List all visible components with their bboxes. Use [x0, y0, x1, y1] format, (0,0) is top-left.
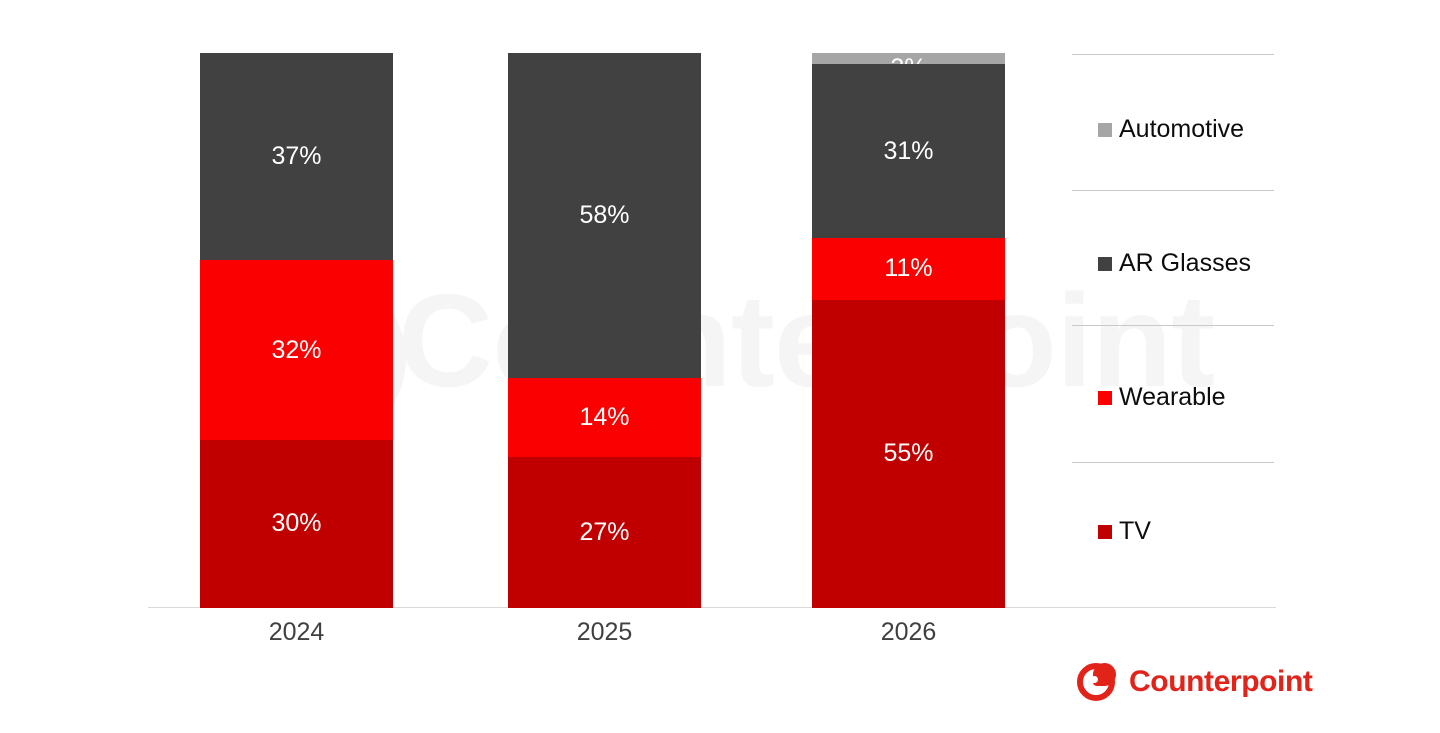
bar-segment-2024-wearable[interactable]: 32% — [200, 260, 393, 439]
bar-segment-2026-ar-glasses[interactable]: 31% — [812, 64, 1005, 238]
segment-value-label: 31% — [883, 139, 933, 164]
x-tick-label-2026: 2026 — [812, 618, 1005, 647]
legend-divider — [1072, 325, 1274, 326]
x-tick-label-2024: 2024 — [200, 618, 393, 647]
bar-segment-2024-tv[interactable]: 30% — [200, 440, 393, 608]
bar-segment-2026-wearable[interactable]: 11% — [812, 238, 1005, 300]
legend-swatch-icon — [1098, 391, 1112, 405]
counterpoint-logo: Counterpoint — [1076, 662, 1313, 702]
legend-label: Automotive — [1119, 117, 1244, 142]
legend-label: AR Glasses — [1119, 251, 1251, 276]
chart-canvas: Counterpoint 37% 32% 30% 2024 58% 14% — [0, 0, 1440, 733]
bar-segment-2025-wearable[interactable]: 14% — [508, 378, 701, 456]
bar-2025[interactable]: 58% 14% 27% — [508, 53, 701, 608]
segment-value-label: 32% — [271, 338, 321, 363]
x-tick-label-2025: 2025 — [508, 618, 701, 647]
legend-item-wearable[interactable]: Wearable — [1098, 385, 1226, 410]
bar-2026[interactable]: 2% 31% 11% 55% — [812, 53, 1005, 608]
legend-label: TV — [1119, 519, 1151, 544]
legend-divider — [1072, 190, 1274, 191]
legend-divider — [1072, 54, 1274, 55]
legend-divider — [1072, 462, 1274, 463]
bar-segment-2024-ar-glasses[interactable]: 37% — [200, 53, 393, 260]
bar-segment-2026-automotive[interactable]: 2% — [812, 53, 1005, 64]
legend-swatch-icon — [1098, 123, 1112, 137]
legend-swatch-icon — [1098, 525, 1112, 539]
segment-value-label: 30% — [271, 511, 321, 536]
segment-value-label: 37% — [271, 144, 321, 169]
legend-label: Wearable — [1119, 385, 1226, 410]
legend-item-automotive[interactable]: Automotive — [1098, 117, 1244, 142]
bar-segment-2025-ar-glasses[interactable]: 58% — [508, 53, 701, 378]
legend-item-tv[interactable]: TV — [1098, 519, 1151, 544]
legend: Automotive AR Glasses Wearable TV — [1060, 40, 1290, 600]
legend-swatch-icon — [1098, 257, 1112, 271]
bar-2024[interactable]: 37% 32% 30% — [200, 53, 393, 608]
segment-value-label: 14% — [579, 405, 629, 430]
segment-value-label: 27% — [579, 520, 629, 545]
segment-value-label: 55% — [883, 441, 933, 466]
legend-item-ar-glasses[interactable]: AR Glasses — [1098, 251, 1251, 276]
counterpoint-mark-icon — [1076, 662, 1116, 702]
bar-segment-2025-tv[interactable]: 27% — [508, 457, 701, 608]
brand-name: Counterpoint — [1129, 667, 1313, 697]
segment-value-label: 58% — [579, 203, 629, 228]
bar-segment-2026-tv[interactable]: 55% — [812, 300, 1005, 608]
segment-value-label: 11% — [884, 256, 932, 281]
